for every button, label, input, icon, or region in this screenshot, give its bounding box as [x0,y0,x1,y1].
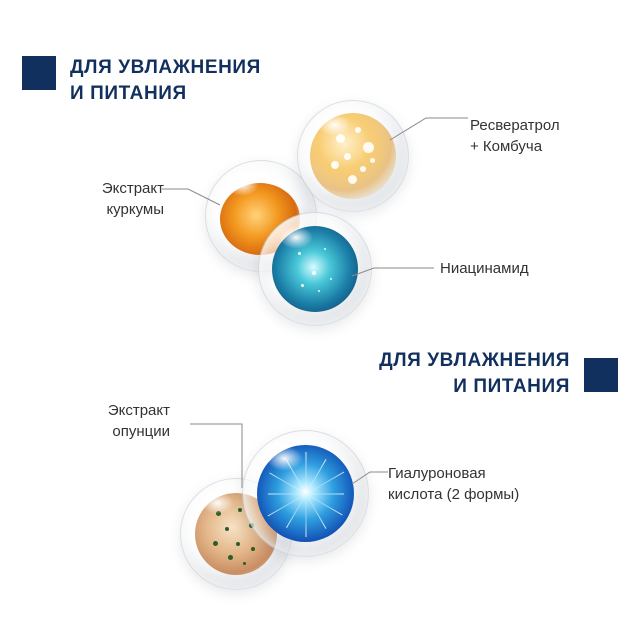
callout-label-hyaluronic-acid: Гиалуроновая кислота (2 формы) [388,463,519,505]
leader-line-hyaluronic [352,462,392,492]
leader-line-turmeric [162,183,222,213]
section-heading-top: ДЛЯ УВЛАЖНЕНИЯ И ПИТАНИЯ [70,55,261,107]
leader-line-niacinamide [352,260,438,286]
leader-line-opuntia [190,412,250,492]
heading-accent-bar-bottom [584,358,618,392]
niacinamide-core [272,226,358,312]
hyaluronic-acid-core [257,445,354,542]
section-heading-bottom: ДЛЯ УВЛАЖНЕНИЯ И ПИТАНИЯ [379,348,570,400]
heading-accent-bar-top [22,56,56,90]
callout-label-turmeric: Экстракт куркумы [102,178,164,220]
leader-line-resveratrol [390,110,480,150]
callout-label-opuntia: Экстракт опунции [108,400,170,442]
infographic-canvas: ДЛЯ УВЛАЖНЕНИЯ И ПИТАНИЯ [0,0,640,640]
hyaluronic-acid-bubble [242,430,369,557]
callout-label-niacinamide: Ниацинамид [440,258,529,279]
callout-label-resveratrol: Ресвератрол + Комбуча [470,115,560,157]
resveratrol-core [310,113,396,199]
